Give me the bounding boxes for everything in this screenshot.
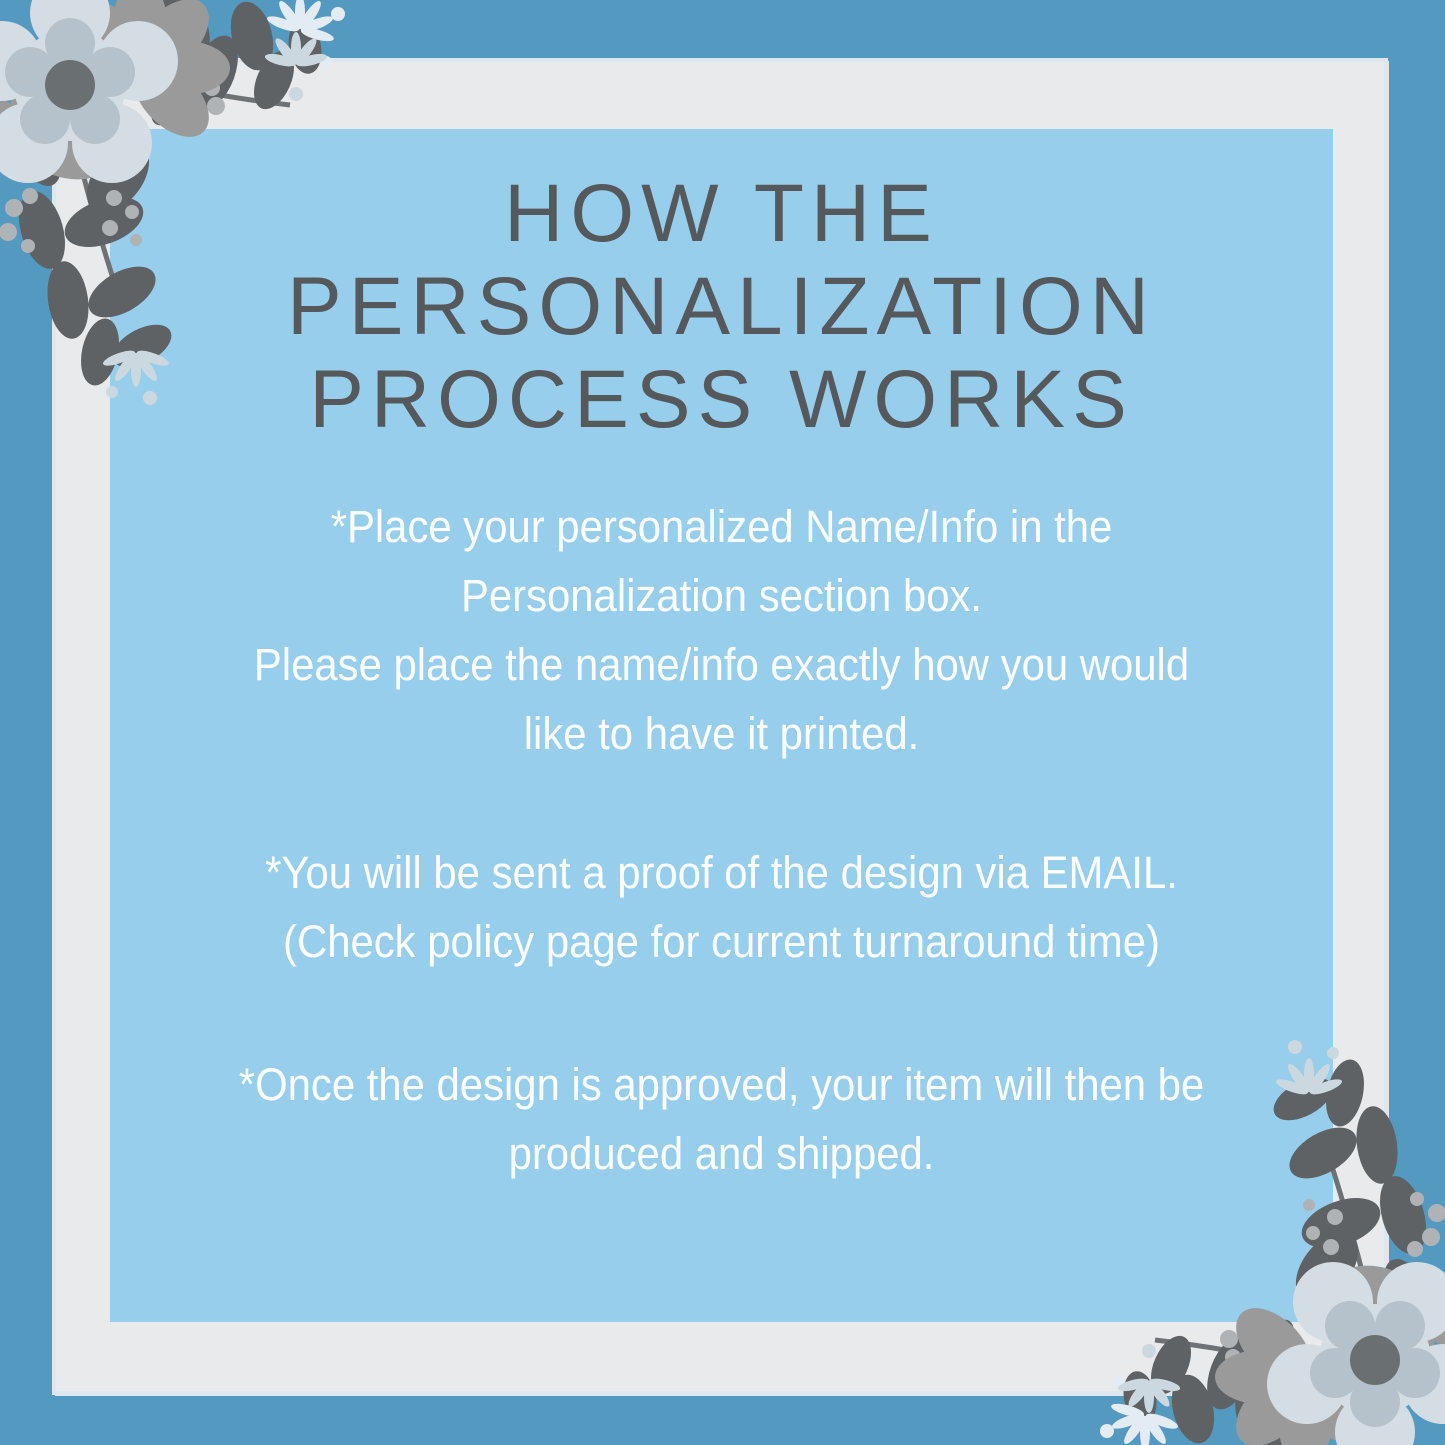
paragraph-production-shipping: *Once the design is approved, your item … — [186, 1050, 1256, 1188]
poster-content: HOW THE PERSONALIZATION PROCESS WORKS *P… — [110, 129, 1333, 1322]
spacer-one — [146, 768, 1297, 838]
frame-seam-top — [55, 58, 1388, 62]
page-title: HOW THE PERSONALIZATION PROCESS WORKS — [146, 167, 1297, 446]
frame-seam-left — [52, 61, 56, 1395]
poster-canvas: HOW THE PERSONALIZATION PROCESS WORKS *P… — [0, 0, 1445, 1445]
frame-seam-bottom — [55, 1391, 1388, 1396]
frame-seam-right — [1384, 61, 1389, 1395]
paragraph-personalization-instructions: *Place your personalized Name/Info in th… — [186, 492, 1256, 768]
spacer-two — [146, 976, 1297, 1050]
paragraph-proof-email: *You will be sent a proof of the design … — [186, 838, 1256, 976]
